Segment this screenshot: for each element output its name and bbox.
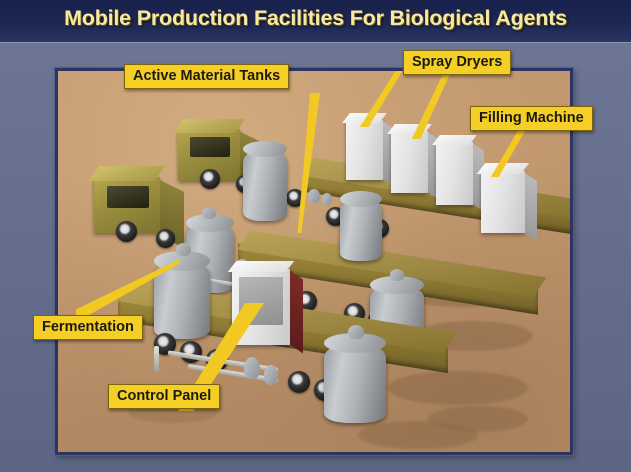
truck-cab-roof <box>173 119 244 133</box>
process-tank-top <box>243 141 287 157</box>
spray-dryer-box <box>436 142 473 205</box>
spray-dryer-box-top <box>432 135 477 145</box>
truck-window <box>107 186 149 208</box>
filling-machine-box-side <box>525 173 537 241</box>
fermentation-tank-vent <box>176 243 191 256</box>
tank-valve <box>322 193 332 205</box>
slide-canvas: Mobile Production Facilities For Biologi… <box>0 0 631 472</box>
trailer-wheel <box>288 371 310 393</box>
label-spray-dryers[interactable]: Spray Dryers <box>403 50 511 75</box>
active-material-tank-top <box>340 191 382 207</box>
tank-valve <box>308 189 320 203</box>
label-control-panel[interactable]: Control Panel <box>108 384 220 409</box>
page-title: Mobile Production Facilities For Biologi… <box>0 6 631 31</box>
pump-unit <box>264 365 278 385</box>
label-active-material-tanks[interactable]: Active Material Tanks <box>124 64 289 89</box>
title-band: Mobile Production Facilities For Biologi… <box>0 0 631 42</box>
active-material-tank <box>340 199 382 261</box>
pump-unit <box>244 357 260 379</box>
truck-cab-roof <box>89 166 165 181</box>
spray-dryer-box <box>346 120 383 180</box>
label-filling-machine[interactable]: Filling Machine <box>470 106 593 131</box>
truck-wheel <box>116 221 137 242</box>
spray-dryer-box <box>391 131 428 193</box>
ground-shadow <box>358 421 478 449</box>
tank-vent <box>390 269 404 281</box>
control-panel-cabinet-top <box>228 261 295 272</box>
control-panel-cabinet-side <box>290 270 303 353</box>
process-piping <box>154 346 159 372</box>
truck-wheel <box>200 169 220 189</box>
process-tank <box>324 343 386 423</box>
process-tank <box>243 149 287 221</box>
truck-wheel <box>156 229 175 248</box>
label-fermentation[interactable]: Fermentation <box>33 315 143 340</box>
truck-window <box>190 137 230 157</box>
ground-shadow <box>388 371 528 405</box>
filling-machine-box <box>481 171 525 233</box>
tank-vent <box>348 325 364 339</box>
tank-vent <box>202 207 216 219</box>
